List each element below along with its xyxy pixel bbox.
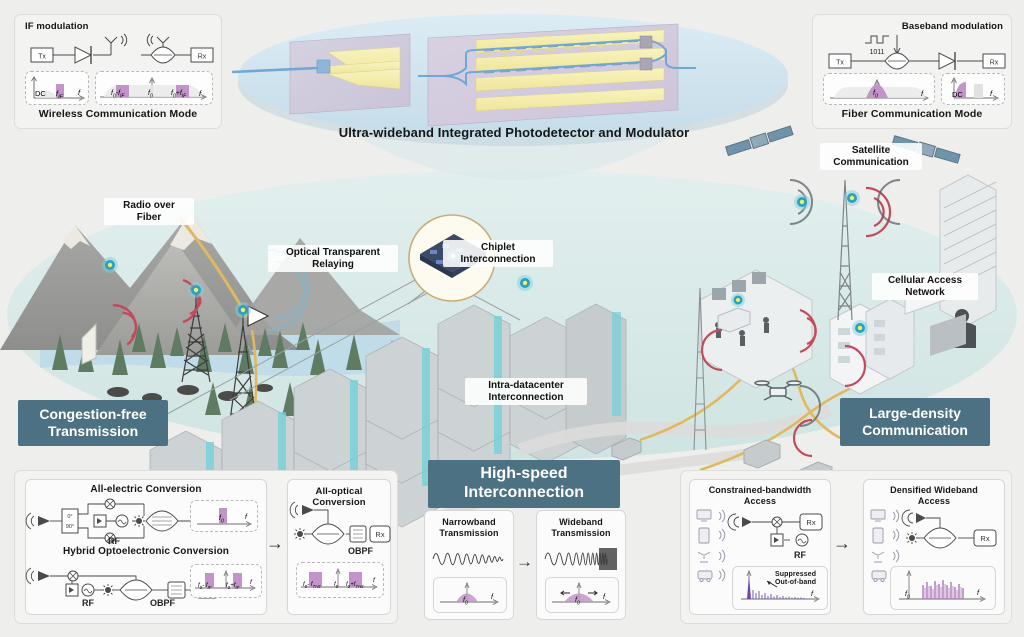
spectrum-axis-label: f — [78, 88, 80, 97]
baseband-modulation-heading: Baseband modulation — [902, 21, 1003, 32]
high-speed-interconnection-detail: Narrowband Transmission f0 f → Wideband … — [424, 510, 624, 622]
spectrum-thz-sidebands: f0- fTHz f0 f0+fTHz f — [296, 562, 384, 598]
svg-text:Rx: Rx — [375, 530, 384, 539]
electric-conversion-panel: All-electric Conversion 0° — [25, 479, 267, 615]
rf-label-constrained: RF — [794, 550, 806, 560]
wideband-transmission-title: Wideband Transmission — [537, 517, 625, 539]
spectrum-suppressed-out-of-band: Suppressed Out-of-band f — [732, 566, 828, 610]
spectrum-axis-label: f — [990, 89, 992, 98]
svg-text:Rx: Rx — [198, 54, 207, 61]
svg-text:0°: 0° — [67, 514, 72, 520]
hybrid-optoelectronic-conversion-title: Hybrid Optoelectronic Conversion — [26, 546, 266, 557]
spectrum-densified-comb: f0 f — [890, 566, 996, 610]
scene-label-chiplet-interconnection: Chiplet Interconnection — [443, 240, 553, 267]
fiber-circuit-diagram: 1011 Tx Rx — [821, 33, 1005, 71]
all-optical-circuit: Rx — [292, 502, 388, 558]
wireless-communication-mode-panel: IF modulation Tx Rx — [14, 14, 222, 129]
banner-large-density-communication: Large-density Communication — [840, 398, 990, 446]
spectrum-if-tone-label: fIF — [56, 89, 63, 101]
if-modulation-heading: IF modulation — [25, 21, 89, 32]
spectrum-narrowband: f0 f — [433, 577, 507, 613]
all-electric-conversion-title: All-electric Conversion — [26, 484, 266, 495]
spectrum-axis-label: f — [245, 514, 247, 521]
scene-label-radio-over-fiber: Radio over Fiber — [104, 198, 194, 225]
spectrum-axis-label: f — [603, 594, 605, 601]
spectrum-dc-label: DC — [35, 89, 46, 98]
spectrum-carrier-label: f0 — [905, 591, 910, 600]
svg-text:Tx: Tx — [836, 60, 844, 67]
spectrum-baseband-dc: DC f — [941, 73, 1005, 105]
wideband-waveform — [543, 545, 619, 573]
spectrum-lower-sideband-label: f0- fIF — [198, 583, 212, 590]
suppressed-out-of-band-annotation: Suppressed Out-of-band — [775, 571, 827, 587]
obpf-label-optical: OBPF — [348, 546, 373, 556]
figure-root: Ultra-wideband Integrated Photodetector … — [0, 0, 1024, 637]
densified-wideband-circuit: Rx — [906, 510, 1002, 556]
narrowband-transmission-title: Narrowband Transmission — [425, 517, 513, 539]
spectrum-upper-sideband-label: f0+fIF — [171, 90, 186, 99]
scene-label-cellular-access-network: Cellular Access Network — [872, 273, 978, 300]
svg-text:Rx: Rx — [980, 534, 989, 543]
fiber-mode-footer: Fiber Communication Mode — [813, 108, 1011, 120]
spectrum-axis-label: f — [199, 89, 201, 98]
large-density-detail-card: Constrained-bandwidth Access — [680, 470, 1012, 624]
svg-text:Rx: Rx — [806, 518, 815, 527]
spectrum-axis-label: f — [373, 577, 375, 584]
narrowband-waveform — [431, 545, 507, 573]
spectrum-upper-sideband-label: f0+fTHz — [346, 582, 364, 589]
spectrum-carrier-label: f0 — [873, 90, 878, 99]
access-arrow: → — [833, 533, 851, 554]
banner-congestion-free-transmission: Congestion-free Transmission — [18, 400, 168, 446]
svg-text:Rx: Rx — [990, 60, 999, 67]
svg-text:Tx: Tx — [38, 54, 46, 61]
transmission-arrow: → — [516, 552, 533, 572]
scene-label-intra-datacenter-interconnection: Intra-datacenter Interconnection — [465, 378, 587, 405]
spectrum-lower-sideband-label: f0- fTHz — [303, 582, 321, 589]
svg-text:1011: 1011 — [869, 49, 884, 56]
spectrum-carrier-label: f0 — [148, 90, 153, 99]
rf-label-electric: RF — [108, 536, 120, 546]
spectrum-optical-carrier: f0 f — [823, 73, 935, 105]
center-caption: Ultra-wideband Integrated Photodetector … — [280, 125, 748, 140]
banner-high-speed-interconnection: High-speed Interconnection — [428, 460, 620, 508]
spectrum-single-tone: f0 f — [190, 500, 258, 532]
spectrum-if-baseband: DC fIF f — [25, 71, 89, 105]
densified-wideband-access-title: Densified Wideband Access — [864, 485, 1004, 507]
svg-text:90°: 90° — [66, 524, 74, 530]
spectrum-axis-label: f — [811, 591, 813, 598]
spectrum-lower-sideband-label: f0-fIF — [111, 90, 124, 99]
spectrum-wideband: f0 f — [545, 577, 619, 613]
conversion-arrow: → — [266, 533, 284, 554]
device-icons-constrained — [695, 508, 733, 586]
wireless-mode-footer: Wireless Communication Mode — [15, 108, 221, 120]
fiber-communication-mode-panel: Baseband modulation 1011 Tx Rx — [812, 14, 1012, 129]
spectrum-axis-label: f — [491, 594, 493, 601]
constrained-bandwidth-access-panel: Constrained-bandwidth Access — [689, 479, 831, 615]
all-optical-conversion-panel: All-optical Conversion — [287, 479, 391, 615]
spectrum-optical-sidebands: f0-fIF f0 f0+fIF f — [95, 71, 213, 105]
scene-label-satellite-communication: Satellite Communication — [820, 143, 922, 170]
rf-label-hybrid: RF — [82, 598, 94, 608]
spectrum-dc-label: DC — [952, 90, 963, 99]
wideband-transmission-panel: Wideband Transmission f0 f — [536, 510, 626, 620]
spectrum-carrier-label: f0 — [463, 597, 468, 606]
densified-wideband-access-panel: Densified Wideband Access — [863, 479, 1005, 615]
constrained-bandwidth-circuit: Rx — [734, 512, 826, 552]
spectrum-carrier-label: f0 — [219, 515, 224, 524]
constrained-bandwidth-access-title: Constrained-bandwidth Access — [690, 485, 830, 507]
spectrum-hybrid-sidebands: f0- fIF f0+fIF f — [190, 564, 262, 598]
scene-label-optical-transparent-relaying: Optical Transparent Relaying — [268, 245, 398, 272]
obpf-label-hybrid: OBPF — [150, 598, 175, 608]
spectrum-carrier-label: f0 — [334, 582, 338, 589]
narrowband-transmission-panel: Narrowband Transmission f0 f — [424, 510, 514, 620]
spectrum-axis-label: f — [250, 579, 252, 586]
congestion-free-detail-card: All-electric Conversion 0° — [14, 470, 398, 624]
spectrum-upper-sideband-label: f0+fIF — [226, 583, 239, 590]
spectrum-carrier-label: f0 — [575, 597, 580, 606]
wireless-circuit-diagram: Tx Rx — [23, 35, 213, 69]
spectrum-axis-label: f — [921, 89, 923, 98]
spectrum-axis-label: f — [977, 590, 979, 597]
